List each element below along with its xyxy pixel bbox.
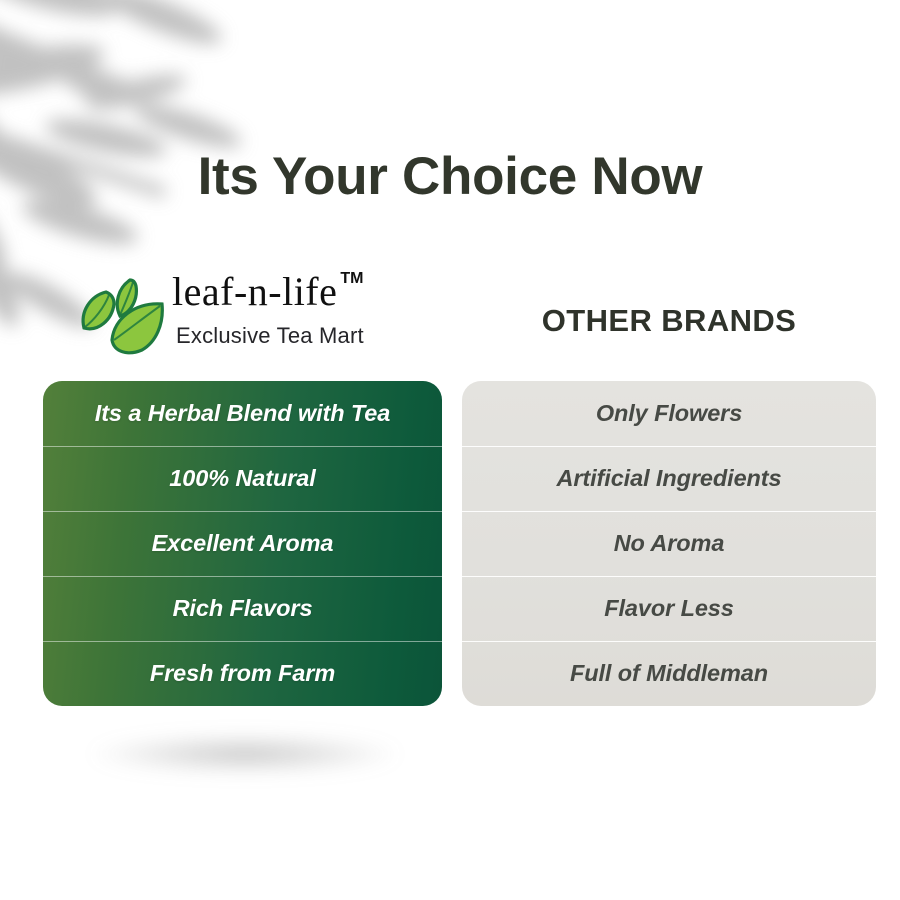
other-brand-row: Artificial Ingredients bbox=[462, 446, 876, 511]
brand-feature-label: Rich Flavors bbox=[173, 595, 313, 622]
other-brand-label: Only Flowers bbox=[596, 400, 742, 427]
trademark-symbol: TM bbox=[340, 270, 363, 287]
brand-feature-row: Fresh from Farm bbox=[43, 641, 442, 706]
other-brand-label: Full of Middleman bbox=[570, 660, 768, 687]
other-brands-header: OTHER BRANDS bbox=[462, 303, 876, 339]
brand-feature-row: 100% Natural bbox=[43, 446, 442, 511]
brand-feature-panel: Its a Herbal Blend with Tea 100% Natural… bbox=[43, 381, 442, 706]
brand-feature-label: Excellent Aroma bbox=[152, 530, 334, 557]
brand-feature-row: Rich Flavors bbox=[43, 576, 442, 641]
brand-wordmark: leaf-n-lifeTM bbox=[172, 268, 364, 315]
brand-feature-row: Its a Herbal Blend with Tea bbox=[43, 381, 442, 446]
other-brand-label: Flavor Less bbox=[604, 595, 734, 622]
other-brand-row: Full of Middleman bbox=[462, 641, 876, 706]
other-brand-label: No Aroma bbox=[614, 530, 725, 557]
brand-panel-dropshadow bbox=[90, 735, 400, 773]
brand-feature-label: 100% Natural bbox=[169, 465, 315, 492]
brand-feature-label: Fresh from Farm bbox=[150, 660, 335, 687]
page-title: Its Your Choice Now bbox=[0, 146, 900, 207]
brand-tagline: Exclusive Tea Mart bbox=[176, 323, 364, 349]
brand-feature-row: Excellent Aroma bbox=[43, 511, 442, 576]
other-brand-row: No Aroma bbox=[462, 511, 876, 576]
brand-feature-label: Its a Herbal Blend with Tea bbox=[95, 400, 390, 427]
three-leaf-icon bbox=[76, 274, 168, 358]
other-brand-row: Flavor Less bbox=[462, 576, 876, 641]
other-brand-row: Only Flowers bbox=[462, 381, 876, 446]
brand-logo: leaf-n-lifeTM Exclusive Tea Mart bbox=[72, 268, 432, 366]
other-brands-panel: Only Flowers Artificial Ingredients No A… bbox=[462, 381, 876, 706]
other-brand-label: Artificial Ingredients bbox=[556, 465, 781, 492]
brand-wordmark-text: leaf-n-life bbox=[172, 269, 337, 314]
